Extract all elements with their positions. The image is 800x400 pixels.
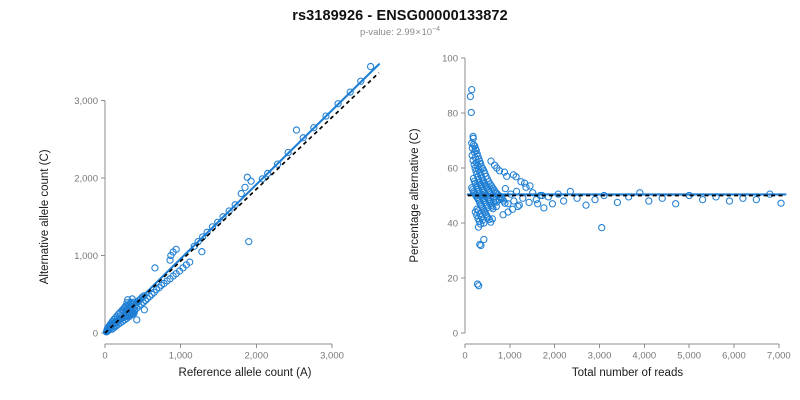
data-point — [523, 184, 529, 190]
percentage-alternative-plot: 02040608010001,0002,0003,0004,0005,0006,… — [400, 0, 800, 400]
y-axis-tick-label: 3,000 — [74, 96, 98, 107]
x-axis-tick-label: 3,000 — [588, 351, 612, 362]
y-axis-title: Alternative allele count (C) — [39, 149, 51, 284]
data-point — [469, 87, 475, 93]
data-point — [481, 236, 487, 242]
x-axis-tick-label: 1,000 — [169, 351, 193, 362]
x-axis-tick-label: 7,000 — [767, 351, 791, 362]
data-point — [535, 201, 541, 207]
data-point — [476, 283, 482, 289]
data-point — [646, 198, 652, 204]
data-point — [141, 307, 147, 313]
x-axis-tick-label: 2,000 — [543, 351, 567, 362]
y-axis-tick-label: 0 — [453, 328, 458, 339]
x-axis-tick-label: 5,000 — [677, 351, 701, 362]
data-point — [152, 265, 158, 271]
data-point — [468, 109, 474, 115]
x-axis-tick-label: 4,000 — [632, 351, 656, 362]
data-point — [134, 317, 140, 323]
data-point — [244, 174, 250, 180]
y-axis-title: Percentage alternative (C) — [409, 128, 421, 262]
data-point — [778, 200, 784, 206]
data-points-group — [467, 87, 784, 289]
fit-line-annotation — [105, 64, 379, 333]
data-point — [515, 203, 521, 209]
data-point — [242, 184, 248, 190]
y-axis-tick-label: 40 — [447, 218, 458, 229]
data-point — [199, 249, 205, 255]
y-axis-tick-label: 2,000 — [74, 173, 98, 184]
data-point — [368, 63, 374, 69]
allele-counts-plot: 01,0002,0003,00001,0002,0003,000Referenc… — [0, 0, 400, 400]
x-axis-tick-label: 1,000 — [498, 351, 522, 362]
y-axis-tick-label: 20 — [447, 273, 458, 284]
data-point — [673, 201, 679, 207]
data-point — [246, 238, 252, 244]
data-point — [541, 205, 547, 211]
x-axis-tick-label: 0 — [102, 351, 107, 362]
x-axis-tick-label: 3,000 — [320, 351, 344, 362]
x-axis-title: Total number of reads — [572, 367, 683, 379]
y-axis-tick-label: 100 — [442, 53, 458, 64]
data-point — [699, 197, 705, 203]
data-point — [238, 190, 244, 196]
x-axis-tick-label: 2,000 — [244, 351, 268, 362]
data-point — [248, 178, 254, 184]
data-point — [502, 186, 508, 192]
data-point — [592, 197, 598, 203]
y-axis-tick-label: 80 — [447, 108, 458, 119]
left-scatter-panel: 01,0002,0003,00001,0002,0003,000Referenc… — [0, 0, 400, 400]
data-point — [561, 198, 567, 204]
y-axis-tick-label: 1,000 — [74, 251, 98, 262]
y-axis-tick-label: 60 — [447, 163, 458, 174]
data-point — [614, 199, 620, 205]
right-scatter-panel: 02040608010001,0002,0003,0004,0005,0006,… — [400, 0, 800, 400]
data-point — [526, 199, 532, 205]
x-axis-tick-label: 0 — [462, 351, 467, 362]
data-point — [511, 198, 517, 204]
x-axis-tick-label: 6,000 — [722, 351, 746, 362]
data-point — [549, 201, 555, 207]
data-point — [599, 225, 605, 231]
data-point — [467, 93, 473, 99]
x-axis-title: Reference allele count (A) — [179, 367, 312, 379]
data-point — [527, 183, 533, 189]
data-point — [488, 158, 494, 164]
data-point — [583, 202, 589, 208]
data-point — [518, 179, 524, 185]
y-axis-tick-label: 0 — [93, 328, 98, 339]
data-point — [293, 127, 299, 133]
data-point — [753, 197, 759, 203]
data-point — [726, 198, 732, 204]
chart-page: rs3189926 - ENSG00000133872 p-value: 2.9… — [0, 0, 800, 400]
